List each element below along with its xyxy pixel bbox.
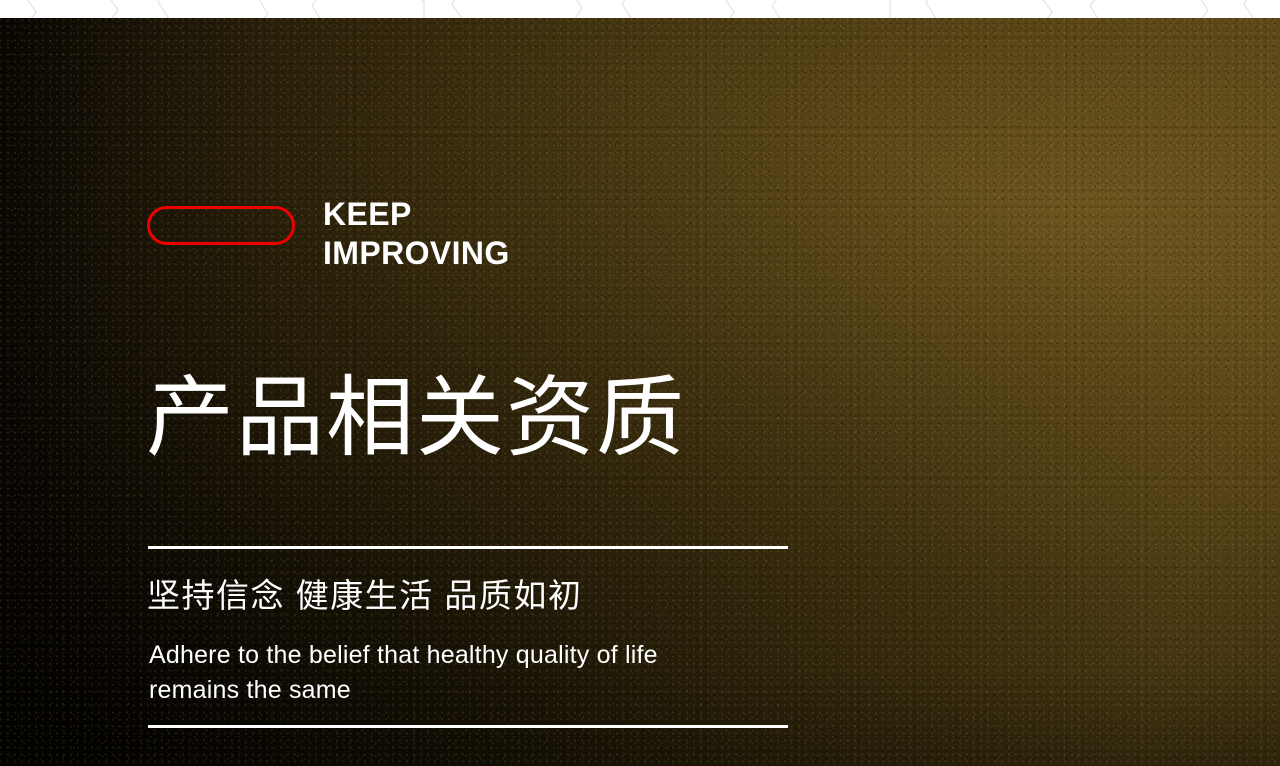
eyebrow-line-1: KEEP bbox=[323, 195, 510, 234]
eyebrow-line-2: IMPROVING bbox=[323, 234, 510, 273]
product-qualification-banner: KEEP IMPROVING 产品相关资质 坚持信念 健康生活 品质如初 Adh… bbox=[0, 0, 1280, 766]
eyebrow-block: KEEP IMPROVING bbox=[147, 206, 510, 273]
page-title: 产品相关资质 bbox=[146, 370, 686, 466]
slogan-english-line-1: Adhere to the belief that healthy qualit… bbox=[149, 638, 799, 673]
divider-top bbox=[148, 546, 788, 549]
top-white-strip bbox=[0, 0, 1280, 18]
hexagon-line-pattern-icon bbox=[0, 0, 1280, 18]
divider-bottom bbox=[148, 725, 788, 728]
red-pill-shape bbox=[147, 206, 295, 245]
slogan-chinese: 坚持信念 健康生活 品质如初 bbox=[147, 576, 582, 616]
banner-content: KEEP IMPROVING 产品相关资质 坚持信念 健康生活 品质如初 Adh… bbox=[0, 18, 1280, 766]
slogan-english-line-2: remains the same bbox=[149, 673, 799, 708]
textured-background: KEEP IMPROVING 产品相关资质 坚持信念 健康生活 品质如初 Adh… bbox=[0, 18, 1280, 766]
slogan-english: Adhere to the belief that healthy qualit… bbox=[149, 638, 799, 708]
eyebrow-text: KEEP IMPROVING bbox=[323, 195, 510, 273]
